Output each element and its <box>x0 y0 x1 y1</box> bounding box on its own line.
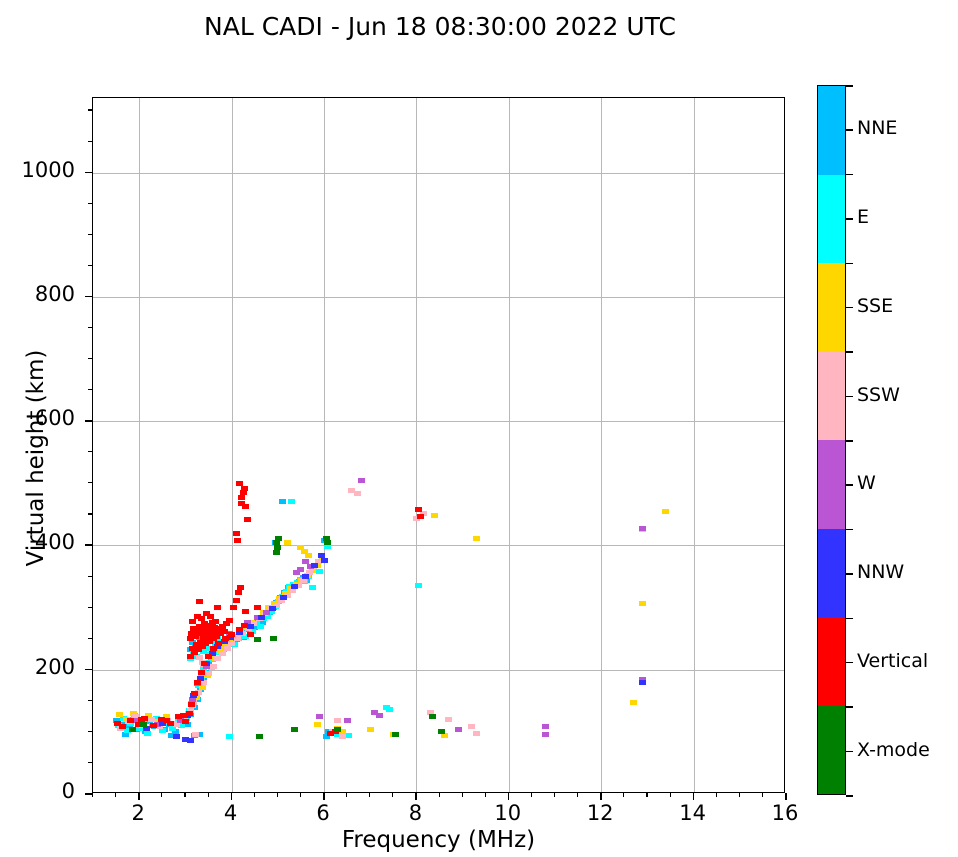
x-tick-minor <box>392 793 393 797</box>
data-point <box>235 590 242 595</box>
plot-area <box>93 98 784 792</box>
data-point <box>273 550 280 555</box>
gridline-horizontal <box>93 173 784 174</box>
data-point <box>119 724 126 729</box>
data-point <box>196 599 203 604</box>
data-point <box>542 724 549 729</box>
colorbar-band-nne[interactable] <box>818 86 845 175</box>
colorbar-tick <box>846 218 853 220</box>
data-point <box>215 641 222 646</box>
y-tick-minor <box>88 482 92 483</box>
y-tick-minor <box>88 607 92 608</box>
colorbar-boundary-tick <box>846 440 853 442</box>
data-point <box>192 732 199 737</box>
gridline-horizontal <box>93 297 784 298</box>
y-tick-label: 200 <box>0 655 75 679</box>
colorbar-tick <box>846 307 853 309</box>
data-point <box>241 623 248 628</box>
data-point <box>242 504 249 509</box>
gridline-horizontal <box>93 421 784 422</box>
data-point <box>639 680 646 685</box>
data-point <box>662 509 669 514</box>
data-point <box>205 671 212 676</box>
colorbar-label-x-mode: X-mode <box>857 739 930 761</box>
gridline-vertical <box>139 98 140 792</box>
data-point <box>431 513 438 518</box>
data-point <box>221 629 228 634</box>
data-point <box>237 585 244 590</box>
gridline-vertical <box>509 98 510 792</box>
y-tick-minor <box>88 638 92 639</box>
x-tick-minor <box>762 793 763 797</box>
colorbar-label-e: E <box>857 206 869 228</box>
x-tick-major <box>231 793 233 800</box>
colorbar-tick <box>846 129 853 131</box>
data-point <box>127 718 134 723</box>
colorbar-band-w[interactable] <box>818 440 845 529</box>
data-point <box>257 624 264 629</box>
data-point <box>228 632 235 637</box>
data-point <box>445 717 452 722</box>
y-tick-minor <box>88 389 92 390</box>
data-point <box>288 499 295 504</box>
data-point <box>205 654 212 659</box>
x-tick-minor <box>277 793 278 797</box>
data-point <box>189 619 196 624</box>
data-point <box>256 734 263 739</box>
data-point <box>230 605 237 610</box>
data-point <box>386 707 393 712</box>
data-point <box>219 651 226 656</box>
colorbar-boundary-tick <box>846 85 853 87</box>
data-point <box>144 731 151 736</box>
plot-frame <box>92 97 785 793</box>
x-tick-major <box>323 793 325 800</box>
data-point <box>214 656 221 661</box>
x-tick-minor <box>462 793 463 797</box>
data-point <box>367 727 374 732</box>
y-tick-minor <box>88 576 92 577</box>
data-point <box>639 601 646 606</box>
data-point <box>238 495 245 500</box>
data-point <box>455 727 462 732</box>
x-tick-minor <box>208 793 209 797</box>
chart-title: NAL CADI - Jun 18 08:30:00 2022 UTC <box>0 12 880 41</box>
data-point <box>187 738 194 743</box>
x-tick-minor <box>92 793 93 797</box>
colorbar-label-ssw: SSW <box>857 384 900 406</box>
data-point <box>129 727 136 732</box>
data-point <box>438 729 445 734</box>
x-tick-minor <box>531 793 532 797</box>
x-tick-minor <box>554 793 555 797</box>
data-point <box>275 536 282 541</box>
data-point <box>198 670 205 675</box>
data-point <box>182 719 189 724</box>
y-tick-minor <box>88 234 92 235</box>
data-point <box>194 680 201 685</box>
data-point <box>212 619 219 624</box>
data-point <box>316 714 323 719</box>
data-point <box>339 734 346 739</box>
data-point <box>140 722 147 727</box>
gridline-vertical <box>232 98 233 792</box>
data-point <box>473 731 480 736</box>
data-point <box>305 553 312 558</box>
data-point <box>314 722 321 727</box>
x-tick-minor <box>646 793 647 797</box>
x-tick-label: 8 <box>385 801 445 825</box>
data-point <box>327 731 334 736</box>
data-point <box>324 540 331 545</box>
data-point <box>226 734 233 739</box>
colorbar-label-sse: SSE <box>857 295 893 317</box>
colorbar-tick <box>846 396 853 398</box>
data-point <box>311 563 318 568</box>
data-point <box>254 637 261 642</box>
colorbar-boundary-tick <box>846 263 853 265</box>
x-tick-minor <box>670 793 671 797</box>
data-point <box>358 478 365 483</box>
y-tick-minor <box>88 513 92 514</box>
data-point <box>415 583 422 588</box>
y-tick-major <box>85 420 92 422</box>
data-point <box>210 664 217 669</box>
y-tick-major <box>85 172 92 174</box>
y-tick-minor <box>88 451 92 452</box>
gridline-vertical <box>694 98 695 792</box>
y-tick-minor <box>88 700 92 701</box>
colorbar-band-vertical[interactable] <box>818 617 845 706</box>
colorbar-tick <box>846 662 853 664</box>
data-point <box>180 713 187 718</box>
data-point <box>417 514 424 519</box>
y-tick-minor <box>88 265 92 266</box>
data-point <box>639 526 646 531</box>
data-point <box>415 507 422 512</box>
gridline-vertical <box>416 98 417 792</box>
x-tick-major <box>415 793 417 800</box>
data-point <box>254 605 261 610</box>
x-tick-major <box>785 793 787 800</box>
colorbar-tick <box>846 484 853 486</box>
data-point <box>201 661 208 666</box>
y-axis-label: Virtual height (km) <box>23 308 49 608</box>
data-point <box>542 732 549 737</box>
data-point <box>376 713 383 718</box>
x-tick-minor <box>485 793 486 797</box>
figure-canvas: NAL CADI - Jun 18 08:30:00 2022 UTC 2468… <box>0 0 958 857</box>
data-point <box>284 540 291 545</box>
x-tick-major <box>138 793 140 800</box>
data-point <box>293 570 300 575</box>
data-point <box>242 609 249 614</box>
data-point <box>473 536 480 541</box>
colorbar-band-nnw[interactable] <box>818 529 845 618</box>
data-point <box>630 700 637 705</box>
data-point <box>280 595 287 600</box>
data-point <box>186 711 193 716</box>
data-point <box>429 714 436 719</box>
y-tick-minor <box>88 358 92 359</box>
y-tick-minor <box>88 109 92 110</box>
x-tick-minor <box>623 793 624 797</box>
colorbar-boundary-tick <box>846 529 853 531</box>
x-axis-label: Frequency (MHz) <box>92 827 785 853</box>
data-point <box>392 732 399 737</box>
data-point <box>214 605 221 610</box>
x-tick-label: 2 <box>108 801 168 825</box>
x-tick-label: 4 <box>201 801 261 825</box>
colorbar-band-ssw[interactable] <box>818 352 845 441</box>
data-point <box>244 517 251 522</box>
data-point <box>291 584 298 589</box>
x-tick-minor <box>346 793 347 797</box>
x-tick-major <box>508 793 510 800</box>
x-tick-major <box>693 793 695 800</box>
colorbar-band-e[interactable] <box>818 175 845 264</box>
y-tick-major <box>85 793 92 795</box>
y-tick-label: 0 <box>0 779 75 803</box>
data-point <box>236 627 243 632</box>
data-point <box>233 531 240 536</box>
x-tick-minor <box>369 793 370 797</box>
x-tick-minor <box>161 793 162 797</box>
data-point <box>233 598 240 603</box>
x-tick-minor <box>300 793 301 797</box>
colorbar-boundary-tick <box>846 351 853 353</box>
data-point <box>354 491 361 496</box>
data-point <box>211 625 218 630</box>
colorbar-label-nnw: NNW <box>857 561 904 583</box>
data-point <box>468 724 475 729</box>
colorbar-tick <box>846 573 853 575</box>
data-point <box>173 734 180 739</box>
x-tick-label: 14 <box>663 801 723 825</box>
data-point <box>207 614 214 619</box>
x-tick-minor <box>716 793 717 797</box>
x-tick-minor <box>577 793 578 797</box>
data-point <box>228 641 235 646</box>
y-tick-minor <box>88 731 92 732</box>
colorbar-boundary-tick <box>846 706 853 708</box>
data-point <box>291 727 298 732</box>
data-point <box>302 574 309 579</box>
data-point <box>210 646 217 651</box>
x-tick-label: 6 <box>293 801 353 825</box>
gridline-horizontal <box>93 545 784 546</box>
data-point <box>226 618 233 623</box>
data-point <box>150 723 157 728</box>
y-tick-minor <box>88 762 92 763</box>
x-tick-minor <box>439 793 440 797</box>
x-tick-label: 10 <box>478 801 538 825</box>
colorbar-band-x-mode[interactable] <box>818 706 845 795</box>
y-tick-major <box>85 544 92 546</box>
data-point <box>334 727 341 732</box>
x-tick-minor <box>184 793 185 797</box>
x-tick-label: 12 <box>570 801 630 825</box>
colorbar-label-w: W <box>857 472 876 494</box>
data-point <box>309 585 316 590</box>
data-point <box>236 481 243 486</box>
data-point <box>188 702 195 707</box>
x-tick-minor <box>115 793 116 797</box>
gridline-vertical <box>324 98 325 792</box>
data-point <box>344 718 351 723</box>
data-point <box>163 718 170 723</box>
x-tick-minor <box>254 793 255 797</box>
data-point <box>258 615 265 620</box>
y-tick-minor <box>88 327 92 328</box>
colorbar-boundary-tick <box>846 795 853 797</box>
colorbar-boundary-tick <box>846 618 853 620</box>
x-tick-major <box>600 793 602 800</box>
y-tick-major <box>85 296 92 298</box>
x-tick-label: 16 <box>755 801 815 825</box>
gridline-vertical <box>601 98 602 792</box>
data-point <box>270 636 277 641</box>
y-tick-label: 1000 <box>0 158 75 182</box>
data-point <box>269 606 276 611</box>
data-point <box>316 569 323 574</box>
data-point <box>279 499 286 504</box>
colorbar-band-sse[interactable] <box>818 263 845 352</box>
colorbar-tick <box>846 751 853 753</box>
colorbar[interactable] <box>817 85 846 795</box>
data-point <box>234 538 241 543</box>
data-point <box>224 646 231 651</box>
x-tick-minor <box>739 793 740 797</box>
data-point <box>198 616 205 621</box>
data-point <box>321 558 328 563</box>
colorbar-boundary-tick <box>846 174 853 176</box>
data-point <box>334 718 341 723</box>
colorbar-label-vertical: Vertical <box>857 650 928 672</box>
y-tick-label: 800 <box>0 282 75 306</box>
data-point <box>191 691 198 696</box>
y-tick-minor <box>88 203 92 204</box>
colorbar-label-nne: NNE <box>857 117 897 139</box>
y-tick-minor <box>88 141 92 142</box>
y-tick-major <box>85 669 92 671</box>
data-point <box>241 486 248 491</box>
